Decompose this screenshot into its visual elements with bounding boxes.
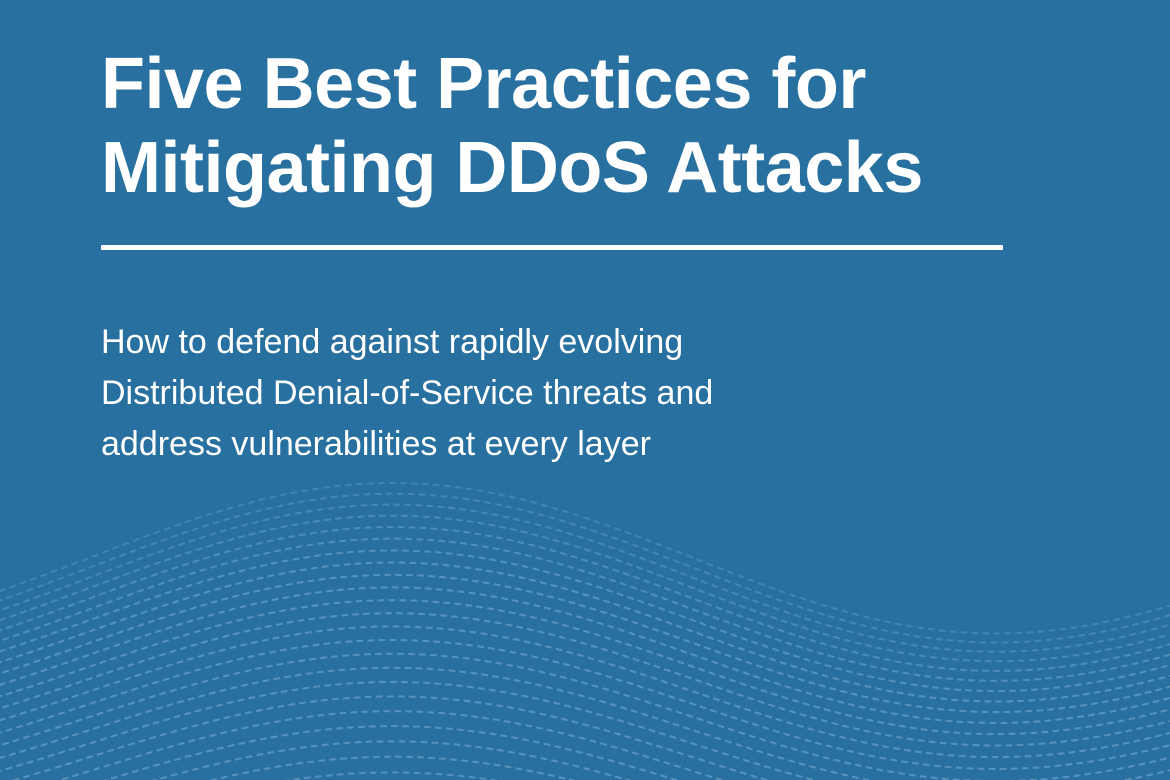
page-subtitle: How to defend against rapidly evolving D…	[101, 317, 1041, 470]
subtitle-line-2: Distributed Denial-of-Service threats an…	[101, 368, 1041, 419]
cover-content: Five Best Practices for Mitigating DDoS …	[0, 0, 1170, 780]
cover-page: Five Best Practices for Mitigating DDoS …	[0, 0, 1170, 780]
subtitle-line-3: address vulnerabilities at every layer	[101, 419, 1041, 470]
subtitle-line-1: How to defend against rapidly evolving	[101, 317, 1041, 368]
title-line-2: Mitigating DDoS Attacks	[101, 126, 1041, 210]
divider-rule	[101, 245, 1003, 250]
title-line-1: Five Best Practices for	[101, 42, 1041, 126]
page-title: Five Best Practices for Mitigating DDoS …	[101, 42, 1041, 210]
